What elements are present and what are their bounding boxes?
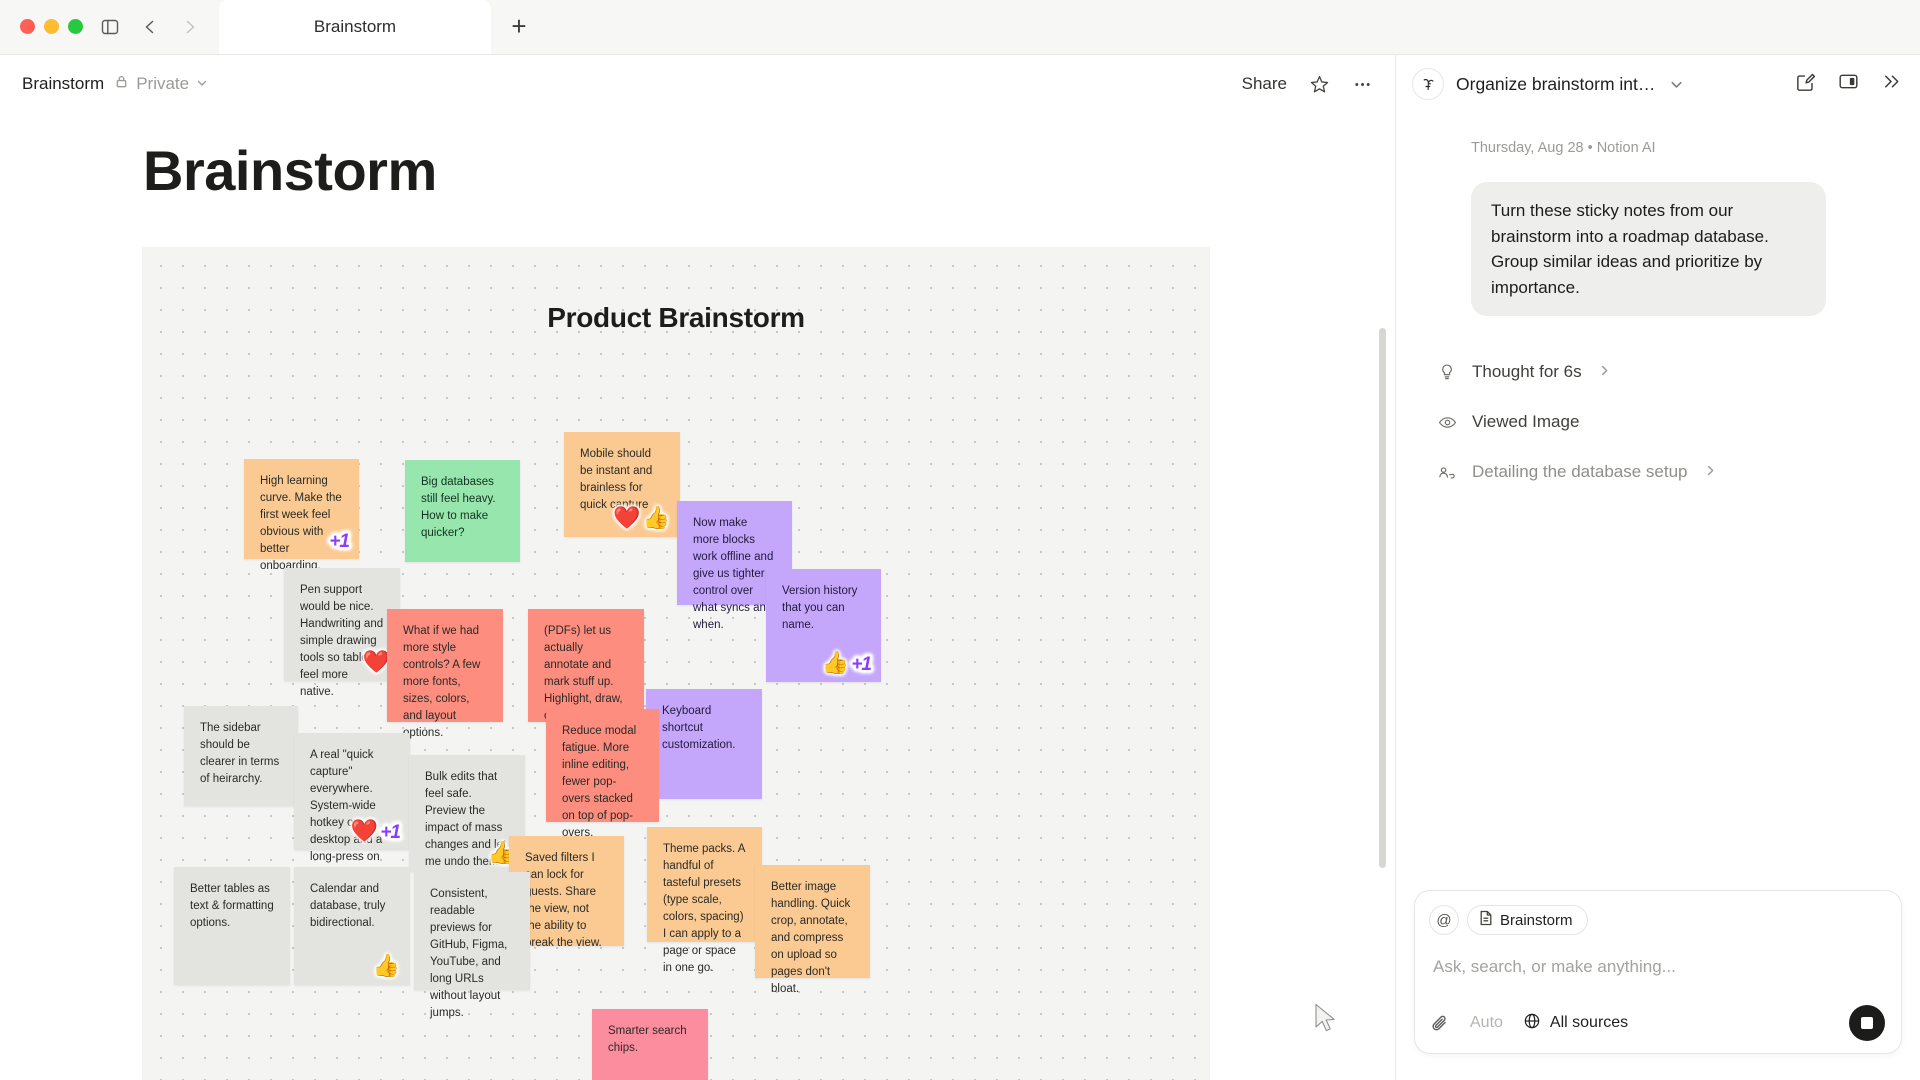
breadcrumb-page-title[interactable]: Brainstorm — [22, 74, 104, 94]
sticky-note-reactions: +1 — [329, 532, 349, 551]
plus-one-reaction-icon[interactable]: +1 — [380, 823, 400, 842]
ai-prompt-input[interactable]: Ask, search, or make anything... — [1433, 957, 1883, 977]
sticky-note-text: Reduce modal fatigue. More inline editin… — [562, 723, 643, 842]
eye-icon — [1436, 413, 1458, 432]
sticky-note[interactable]: The sidebar should be clearer in terms o… — [184, 706, 298, 806]
heart-reaction-icon[interactable]: ❤️ — [351, 820, 378, 842]
sticky-note[interactable]: Pen support would be nice. Handwriting a… — [284, 568, 400, 681]
sticky-note-reactions: ❤️👍 — [613, 507, 670, 529]
ai-step-label: Detailing the database setup — [1472, 462, 1688, 482]
sticky-note[interactable]: Version history that you can name.👍+1 — [766, 569, 881, 682]
back-icon[interactable] — [137, 14, 163, 40]
model-selector[interactable]: Auto — [1470, 1014, 1503, 1032]
star-icon[interactable] — [1309, 74, 1330, 95]
sticky-note[interactable]: (PDFs) let us actually annotate and mark… — [528, 609, 644, 722]
thumbsup-reaction-icon[interactable]: 👍 — [373, 955, 400, 977]
sticky-note-text: Calendar and database, truly bidirection… — [310, 881, 394, 932]
new-tab-plus-icon: + — [511, 11, 526, 42]
ai-thread-title[interactable]: Organize brainstorm int… — [1456, 74, 1655, 95]
ai-conversation: Thursday, Aug 28 • Notion AI Turn these … — [1396, 113, 1920, 890]
user-message-bubble: Turn these sticky notes from our brainst… — [1471, 182, 1826, 316]
tab-strip: Brainstorm + — [219, 0, 547, 54]
sticky-note-text: Version history that you can name. — [782, 583, 865, 634]
ai-step-2[interactable]: Viewed Image — [1426, 412, 1890, 432]
page-body: Brainstorm Product Brainstorm High learn… — [0, 113, 1395, 1080]
sticky-note[interactable]: Keyboard shortcut customization. — [646, 689, 762, 799]
sticky-note[interactable]: Theme packs. A handful of tasteful prese… — [647, 827, 762, 942]
lock-icon — [114, 74, 129, 94]
paperclip-icon[interactable] — [1431, 1014, 1450, 1033]
sticky-note[interactable]: Smarter search chips. — [592, 1009, 708, 1080]
sources-label: All sources — [1550, 1014, 1628, 1032]
maximize-window-button[interactable] — [68, 19, 83, 34]
double-chevron-right-icon[interactable] — [1881, 71, 1902, 97]
sticky-note[interactable]: Big databases still feel heavy. How to m… — [405, 460, 520, 562]
notion-topbar: Brainstorm Private Share — [0, 55, 1395, 113]
sticky-note[interactable]: Better tables as text & formatting optio… — [174, 867, 290, 985]
heart-reaction-icon[interactable]: ❤️ — [363, 651, 390, 673]
stop-icon[interactable] — [1849, 1005, 1885, 1041]
ai-panel-header-actions — [1795, 71, 1902, 97]
sticky-note-text: Pen support would be nice. Handwriting a… — [300, 582, 384, 701]
browser-chrome-controls — [0, 0, 219, 54]
sticky-note[interactable]: Mobile should be instant and brainless f… — [564, 432, 680, 537]
browser-chrome: Brainstorm + — [0, 0, 1920, 55]
sticky-note-text: Theme packs. A handful of tasteful prese… — [663, 841, 746, 977]
ai-step-3[interactable]: Detailing the database setup — [1426, 462, 1890, 482]
sticky-note-text: Smarter search chips. — [608, 1023, 692, 1057]
ellipsis-icon[interactable] — [1352, 74, 1373, 95]
notion-ai-face-icon — [1412, 68, 1444, 100]
chevron-down-icon — [196, 74, 208, 94]
sticky-note-text: Consistent, readable previews for GitHub… — [430, 886, 514, 1022]
ai-composer[interactable]: @ Brainstorm Ask, search, or make anythi… — [1414, 890, 1902, 1054]
tab-label: Brainstorm — [314, 17, 396, 37]
database-setup-icon — [1436, 463, 1458, 482]
ai-steps-list: Thought for 6sViewed ImageDetailing the … — [1426, 362, 1890, 482]
ai-step-label: Thought for 6s — [1472, 362, 1582, 382]
sticky-note-text: Better image handling. Quick crop, annot… — [771, 879, 854, 998]
sticky-note-text: Keyboard shortcut customization. — [662, 703, 746, 754]
window-traffic-lights — [20, 19, 83, 34]
chevron-right-icon — [1598, 364, 1611, 381]
sticky-note-text: Mobile should be instant and brainless f… — [580, 446, 664, 514]
plus-one-reaction-icon[interactable]: +1 — [329, 532, 349, 551]
sources-selector[interactable]: All sources — [1523, 1012, 1628, 1035]
ai-step-label: Viewed Image — [1472, 412, 1579, 432]
share-button[interactable]: Share — [1242, 74, 1287, 94]
sticky-note-text: Better tables as text & formatting optio… — [190, 881, 274, 932]
sticky-note-reactions: 👍 — [373, 955, 400, 977]
page-scrollbar[interactable] — [1379, 328, 1386, 868]
ai-composer-wrap: @ Brainstorm Ask, search, or make anythi… — [1396, 890, 1920, 1080]
panel-layout-icon[interactable] — [1838, 71, 1859, 97]
sticky-note-text: Big databases still feel heavy. How to m… — [421, 474, 504, 542]
lightbulb-icon — [1436, 363, 1458, 381]
sticky-note[interactable]: Reduce modal fatigue. More inline editin… — [546, 709, 659, 822]
sticky-note[interactable]: Bulk edits that feel safe. Preview the i… — [409, 755, 525, 872]
context-chip-brainstorm[interactable]: Brainstorm — [1467, 905, 1588, 935]
sticky-note[interactable]: A real "quick capture" everywhere. Syste… — [294, 733, 410, 850]
page-title[interactable]: Brainstorm — [143, 138, 1395, 203]
sticky-note[interactable]: High learning curve. Make the first week… — [244, 459, 359, 559]
composer-footer: Auto All sources — [1429, 1005, 1887, 1041]
conversation-meta: Thursday, Aug 28 • Notion AI — [1426, 140, 1890, 156]
ai-side-panel: Organize brainstorm int… — [1395, 55, 1920, 1080]
minimize-window-button[interactable] — [44, 19, 59, 34]
ai-step-1[interactable]: Thought for 6s — [1426, 362, 1890, 382]
whiteboard-canvas[interactable]: Product Brainstorm High learning curve. … — [142, 247, 1210, 1080]
sticky-note[interactable]: Better image handling. Quick crop, annot… — [755, 865, 870, 978]
ai-panel-header: Organize brainstorm int… — [1396, 55, 1920, 113]
document-icon — [1479, 910, 1493, 930]
whiteboard-title: Product Brainstorm — [142, 302, 1210, 334]
topbar-actions: Share — [1242, 74, 1373, 95]
privacy-label: Private — [136, 74, 189, 94]
thumbsup-reaction-icon[interactable]: 👍 — [643, 507, 670, 529]
sticky-note-text: Bulk edits that feel safe. Preview the i… — [425, 769, 509, 888]
sticky-note-text: The sidebar should be clearer in terms o… — [200, 720, 282, 788]
sticky-note[interactable]: Calendar and database, truly bidirection… — [294, 867, 410, 985]
close-window-button[interactable] — [20, 19, 35, 34]
sticky-note-text: High learning curve. Make the first week… — [260, 473, 343, 575]
compose-icon[interactable] — [1795, 71, 1816, 97]
privacy-indicator[interactable]: Private — [114, 74, 208, 94]
context-chip-label: Brainstorm — [1500, 912, 1573, 929]
sticky-note-text: Now make more blocks work offline and gi… — [693, 515, 776, 634]
thumbsup-reaction-icon[interactable]: 👍 — [822, 652, 849, 674]
composer-context-chips: @ Brainstorm — [1429, 905, 1887, 935]
new-tab-button[interactable]: + — [491, 0, 547, 54]
sticky-note[interactable]: What if we had more style controls? A fe… — [387, 609, 503, 722]
sticky-note-reactions: 👍+1 — [822, 652, 871, 674]
breadcrumb: Brainstorm Private — [22, 74, 208, 94]
sticky-note-reactions: ❤️ — [363, 651, 390, 673]
sticky-note-reactions: ❤️+1 — [351, 820, 400, 842]
sticky-note-text: Saved filters I can lock for guests. Sha… — [525, 850, 608, 952]
sticky-note[interactable]: Consistent, readable previews for GitHub… — [414, 872, 530, 990]
sticky-note-text: What if we had more style controls? A fe… — [403, 623, 487, 742]
tab-brainstorm[interactable]: Brainstorm — [219, 0, 491, 54]
mouse-cursor — [1314, 1003, 1340, 1038]
heart-reaction-icon[interactable]: ❤️ — [613, 507, 640, 529]
chevron-down-icon[interactable] — [1669, 77, 1684, 92]
chevron-right-icon — [1704, 464, 1717, 481]
plus-one-reaction-icon[interactable]: +1 — [851, 655, 871, 674]
globe-icon — [1523, 1012, 1541, 1035]
sidebar-toggle-icon[interactable] — [97, 14, 123, 40]
at-icon[interactable]: @ — [1429, 905, 1459, 935]
forward-icon — [177, 14, 203, 40]
